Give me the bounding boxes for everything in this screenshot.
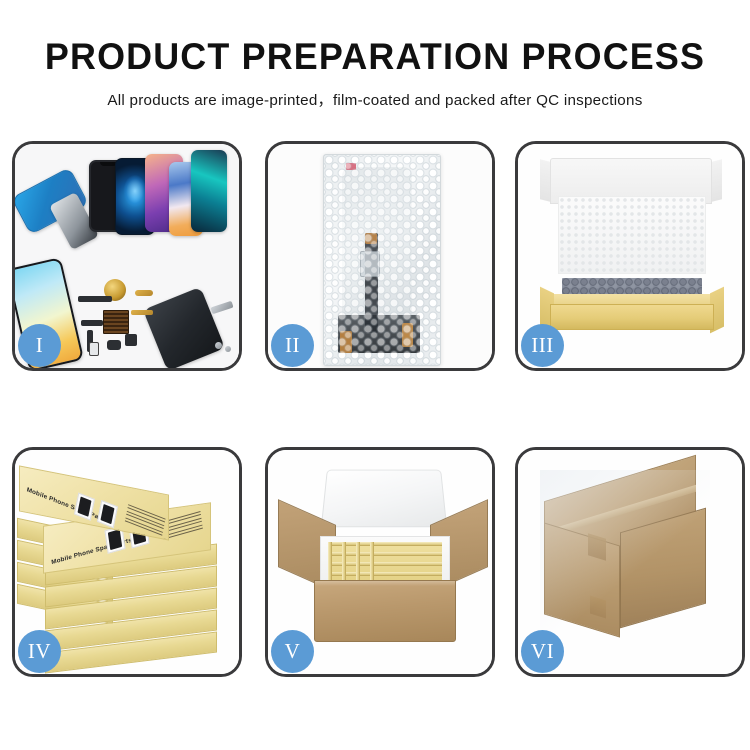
gold-strip-part bbox=[131, 310, 153, 315]
page-subtitle: All products are image-printed，film-coat… bbox=[0, 88, 750, 110]
screw-part-2 bbox=[225, 346, 231, 352]
wrapped-gold-tab bbox=[365, 233, 377, 244]
speaker-module-part bbox=[107, 340, 121, 350]
page-title: PRODUCT PREPARATION PROCESS bbox=[11, 38, 739, 77]
step-badge-2: II bbox=[271, 324, 314, 367]
step-panel-box-stacking: Mobile Phone Spare Parts Mobile Phone Sp… bbox=[12, 447, 242, 677]
white-foam-sheet bbox=[558, 196, 706, 274]
camera-module-part bbox=[125, 334, 137, 346]
yellow-kraft-tray bbox=[550, 304, 714, 330]
shipping-carton-body bbox=[314, 580, 456, 642]
screw-part bbox=[215, 342, 222, 349]
steps-grid: I II bbox=[12, 141, 745, 678]
step-badge-4: IV bbox=[18, 630, 61, 673]
gold-contact-part bbox=[135, 290, 153, 296]
box-spec-lines bbox=[124, 504, 165, 538]
step-panel-carton-sealed: VI bbox=[515, 447, 745, 677]
step-badge-6: VI bbox=[521, 630, 564, 673]
step-panel-bubble-wrapping: II bbox=[265, 141, 495, 371]
step-panel-carton-filling: V bbox=[265, 447, 495, 677]
phone-back-housing bbox=[143, 287, 225, 368]
sim-tray-part bbox=[89, 342, 99, 356]
step-badge-3: III bbox=[521, 324, 564, 367]
connector-grid-part bbox=[103, 310, 129, 334]
teal-wave-phone bbox=[191, 150, 227, 232]
wrapped-gold-strip-right bbox=[402, 323, 413, 347]
step-panel-foam-boxing: III bbox=[515, 141, 745, 371]
flex-cable-part bbox=[78, 296, 112, 302]
bubble-wrap-bag bbox=[323, 154, 441, 366]
metal-bracket-part bbox=[210, 301, 233, 314]
header: PRODUCT PREPARATION PROCESS All products… bbox=[0, 0, 750, 110]
wrapped-connector bbox=[360, 251, 380, 277]
pink-label-sticker bbox=[346, 163, 356, 170]
foam-lid bbox=[321, 470, 447, 528]
step-panel-parts-inspection: I bbox=[12, 141, 242, 371]
wrapped-gold-strip-left bbox=[340, 331, 352, 353]
box-window-screen-b bbox=[97, 500, 118, 528]
step-badge-5: V bbox=[271, 630, 314, 673]
product-preparation-infographic: PRODUCT PREPARATION PROCESS All products… bbox=[0, 0, 750, 750]
step-badge-1: I bbox=[18, 324, 61, 367]
box-brand-label: Mobile Phone Spare Parts bbox=[26, 486, 107, 524]
small-flex-part bbox=[81, 320, 103, 326]
